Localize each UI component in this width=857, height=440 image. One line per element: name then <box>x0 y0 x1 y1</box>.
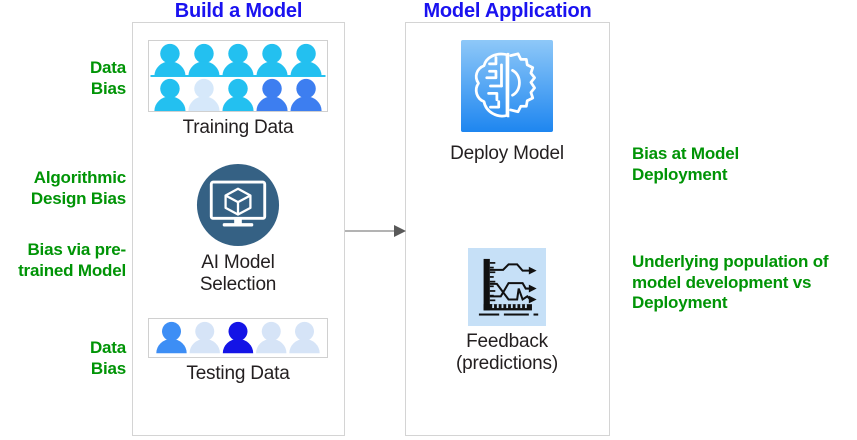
node-label-testing-data: Testing Data <box>138 363 338 385</box>
monitor-cube-icon <box>196 163 280 247</box>
node-label-training-data: Training Data <box>138 117 338 139</box>
column-title-model-application: Model Application <box>405 0 610 23</box>
line-chart-icon <box>468 248 546 326</box>
annotation-bias-at-model-deployment: Bias at Model Deployment <box>632 144 854 185</box>
node-label-ai-model-selection-line2: Selection <box>138 274 338 296</box>
brain-gear-icon <box>461 40 553 132</box>
annotation-line: model development vs <box>632 273 856 294</box>
annotation-line: Deployment <box>632 293 856 314</box>
annotation-line: Deployment <box>632 165 854 186</box>
node-feedback-predictions[interactable]: Feedback (predictions) <box>409 248 605 376</box>
annotation-underlying-population: Underlying population of model developme… <box>632 252 856 314</box>
annotation-line: trained Model <box>0 261 126 282</box>
node-ai-model-selection[interactable]: AI Model Selection <box>138 163 338 297</box>
node-label-feedback-line2: (predictions) <box>409 353 605 375</box>
diagram-canvas: Build a Model Model Application <box>0 0 857 440</box>
annotation-line: Bias <box>0 79 126 100</box>
annotation-algorithmic-design-bias: Algorithmic Design Bias <box>0 168 126 209</box>
node-label-deploy-model: Deploy Model <box>409 143 605 165</box>
annotation-line: Algorithmic <box>0 168 126 189</box>
build-to-application-arrow <box>345 223 407 239</box>
annotation-line: Bias at Model <box>632 144 854 165</box>
node-label-ai-model-selection-line1: AI Model <box>138 252 338 274</box>
annotation-line: Data <box>0 58 126 79</box>
annotation-data-bias-training: Data Bias <box>0 58 126 99</box>
annotation-data-bias-testing: Data Bias <box>0 338 126 379</box>
people-group-icon <box>148 40 328 112</box>
node-label-feedback-line1: Feedback <box>409 331 605 353</box>
annotation-bias-via-pretrained-model: Bias via pre- trained Model <box>0 240 126 281</box>
annotation-line: Bias <box>0 359 126 380</box>
people-group-icon <box>148 318 328 358</box>
annotation-line: Bias via pre- <box>0 240 126 261</box>
node-testing-data[interactable]: Testing Data <box>138 318 338 385</box>
column-title-build-a-model: Build a Model <box>132 0 345 23</box>
node-deploy-model[interactable]: Deploy Model <box>409 40 605 165</box>
node-training-data[interactable]: Training Data <box>138 40 338 139</box>
annotation-line: Design Bias <box>0 189 126 210</box>
annotation-line: Data <box>0 338 126 359</box>
annotation-line: Underlying population of <box>632 252 856 273</box>
